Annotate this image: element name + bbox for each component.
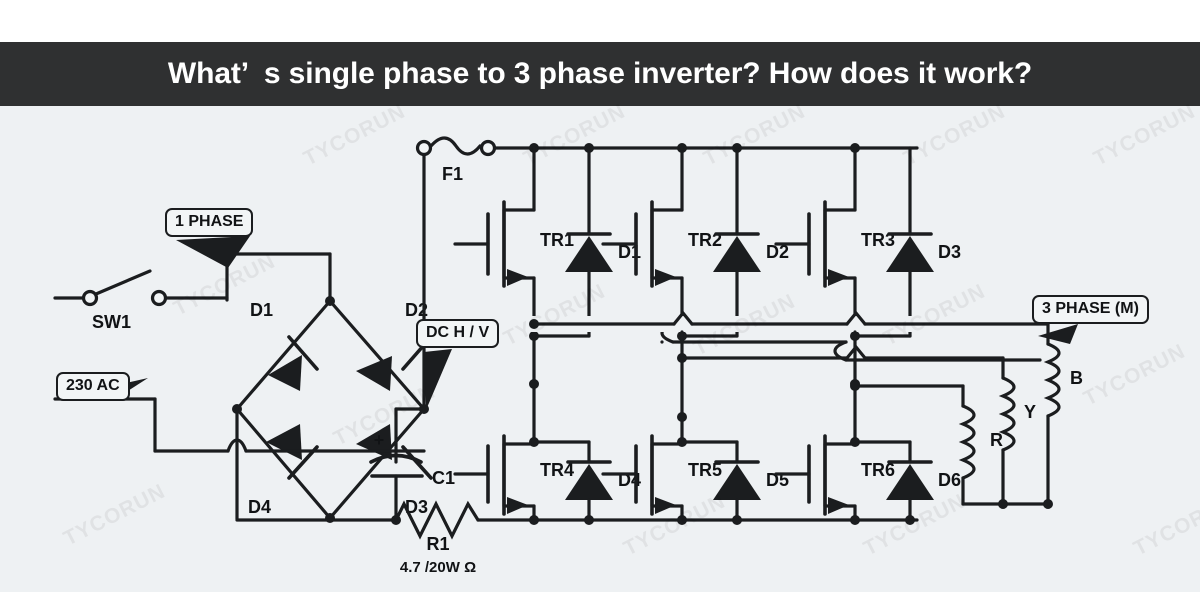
label-winding-y: Y: [1024, 402, 1036, 422]
label-f1: F1: [442, 164, 463, 184]
diode-d2-freewheel: D2: [713, 148, 789, 336]
label-sw1: SW1: [92, 312, 131, 332]
diode-d4-bridge: D4: [248, 424, 317, 517]
label-c1-plus: +: [374, 430, 385, 450]
transistor-tr1: TR1: [455, 148, 574, 336]
diode-d1-bridge: D1: [250, 300, 317, 391]
wire-dc-positive: F1: [418, 138, 918, 409]
title-banner: What’ s single phase to 3 phase inverter…: [0, 42, 1200, 106]
label-bridge-d1: D1: [250, 300, 273, 320]
motor-winding-r: R: [963, 386, 1003, 504]
page-title: What’ s single phase to 3 phase inverter…: [168, 57, 1032, 91]
transistor-tr6: TR6: [776, 436, 895, 520]
phase-output-c: [850, 381, 963, 391]
diode-d3-bridge: D3: [356, 424, 431, 517]
label-d3-freewheel: D3: [938, 242, 961, 262]
bottom-margin: [0, 592, 1200, 600]
fuse-f1: F1: [418, 138, 495, 184]
diode-d3-freewheel: D3: [886, 148, 961, 336]
top-margin: [0, 0, 1200, 42]
wire-phase-in: [225, 254, 330, 301]
callout-three-phase: 3 PHASE (M): [1032, 295, 1149, 324]
motor-neutral-tie: [963, 499, 1053, 509]
callout-one-phase: 1 PHASE: [165, 208, 253, 237]
label-d6-freewheel: D6: [938, 470, 961, 490]
inverter-leg-3: TR3 D3 TR6: [776, 148, 961, 525]
label-c1: C1: [432, 468, 455, 488]
diode-d4-freewheel: D4: [565, 442, 641, 520]
label-bridge-d4: D4: [248, 497, 271, 517]
label-winding-r: R: [990, 430, 1003, 450]
diode-d5-freewheel: D5: [713, 442, 789, 520]
phase-output-a-clean: [528, 313, 1048, 338]
inverter-leg-2: TR2 D2 TR5: [603, 148, 789, 525]
circuit-diagram: .w { stroke:#1b1d1f; stroke-width:3.2; f…: [0, 106, 1200, 592]
diode-d1-freewheel: D1: [565, 148, 641, 336]
motor-winding-b: B: [1048, 324, 1083, 504]
screenshot-root: What’ s single phase to 3 phase inverter…: [0, 0, 1200, 600]
schematic-svg: .w { stroke:#1b1d1f; stroke-width:3.2; f…: [0, 106, 1200, 592]
resistor-r1: R1 4.7 /20W Ω: [396, 504, 917, 576]
transistor-tr3: TR3: [776, 148, 895, 336]
callout-input-volts: 230 AC: [56, 372, 130, 401]
switch-sw1: SW1: [55, 271, 227, 332]
label-winding-b: B: [1070, 368, 1083, 388]
label-r1-value: 4.7 /20W Ω: [400, 559, 476, 576]
motor-winding-y: Y: [1003, 358, 1036, 504]
callout-dc-bus: DC H / V: [416, 319, 499, 348]
diode-d6-freewheel: D6: [886, 442, 961, 520]
transistor-tr4: TR4: [455, 436, 574, 520]
label-r1: R1: [426, 534, 449, 554]
dc-negative-rail: R1 4.7 /20W Ω: [237, 504, 917, 576]
